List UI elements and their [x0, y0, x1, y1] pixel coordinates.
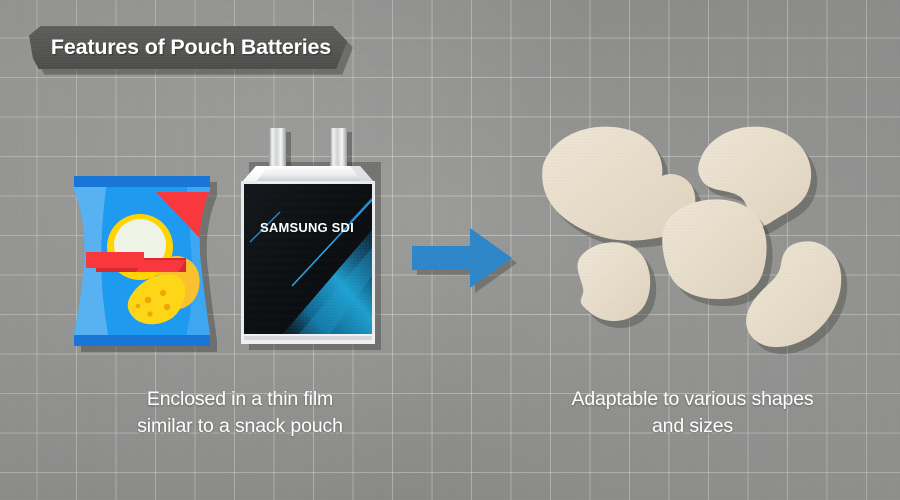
page-title: Features of Pouch Batteries [29, 26, 347, 69]
infographic-canvas: Features of Pouch Batteries [0, 0, 900, 500]
freeform-shapes-icon [525, 120, 870, 360]
snack-pouch-icon [68, 172, 223, 350]
pouch-top-crimp [68, 172, 223, 187]
caption-left-line2: similar to a snack pouch [65, 413, 415, 440]
battery-brand-label: SAMSUNG SDI [260, 220, 354, 235]
title-banner: Features of Pouch Batteries [29, 26, 347, 69]
battery-tab-positive [330, 128, 347, 171]
pouch-battery-icon: SAMSUNG SDI [232, 126, 384, 354]
shape-blob-3 [662, 199, 772, 306]
shape-blob-4 [578, 242, 657, 328]
snack-pouch-body [68, 172, 223, 350]
caption-right: Adaptable to various shapes and sizes [520, 386, 865, 440]
caption-right-line2: and sizes [520, 413, 865, 440]
pouch-band [86, 252, 144, 268]
arrow-right-icon [408, 222, 518, 294]
caption-right-line1: Adaptable to various shapes [520, 386, 865, 413]
caption-left: Enclosed in a thin film similar to a sna… [65, 386, 415, 440]
battery-tab-negative [269, 128, 286, 171]
caption-left-line1: Enclosed in a thin film [65, 386, 415, 413]
